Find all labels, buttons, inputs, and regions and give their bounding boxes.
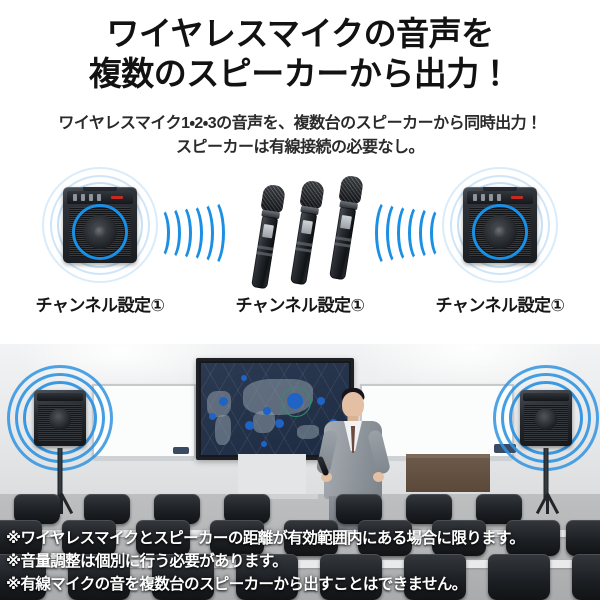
podium-top — [406, 454, 490, 458]
speaker-foot — [524, 259, 534, 263]
presenter-hand-right — [373, 472, 384, 482]
microphone-body — [251, 216, 278, 290]
map-node — [263, 407, 271, 415]
speaker-knob — [473, 194, 477, 201]
wireless-microphone-group — [244, 172, 356, 280]
speaker-knob — [73, 194, 77, 201]
tripod-leg — [546, 494, 549, 514]
microphone-lcd-display — [340, 215, 352, 229]
speaker-control-panel — [67, 191, 133, 204]
page-subtitle-line-2: スピーカーは有線接続の必要なし。 — [0, 136, 600, 160]
map-node-highlight — [281, 387, 311, 417]
display-stand — [238, 454, 306, 498]
continent-shape — [215, 415, 231, 445]
speaker-grille — [469, 207, 531, 257]
continent-shape — [297, 425, 319, 439]
speaker-knob — [89, 194, 93, 201]
presenter — [318, 388, 388, 504]
page-title-line-2: 複数のスピーカーから出力！ — [0, 54, 600, 94]
speaker-body — [463, 187, 537, 263]
microphone-band — [256, 251, 272, 256]
diagram-node-microphones: チャンネル設定① — [200, 162, 400, 312]
wave-arc — [375, 198, 401, 268]
infographic-page: ワイヤレスマイクの音声を 複数のスピーカーから出力！ ワイヤレスマイク1・2・3… — [0, 0, 600, 600]
microphone-lcd-display — [301, 220, 313, 234]
microphone-band — [257, 245, 273, 250]
speaker-dust-cap — [95, 227, 106, 238]
speaker-body — [520, 390, 572, 446]
conference-room-photo: ※ワイヤレスマイクとスピーカーの距離が有効範囲内にある場合に限ります。 ※音量調… — [0, 344, 600, 600]
microphone-icon-1 — [246, 183, 288, 290]
map-node — [241, 375, 247, 381]
sound-wave-left — [150, 200, 206, 266]
microphone-band — [295, 247, 311, 252]
page-title-line-1: ワイヤレスマイクの音声を — [0, 14, 600, 54]
footnote-3: ※有線マイクの音を複数台のスピーカーから出すことはできません。 — [6, 574, 598, 597]
footnote-1: ※ワイヤレスマイクとスピーカーの距離が有効範囲内にある場合に限ります。 — [6, 528, 598, 551]
speaker-control-panel — [467, 191, 533, 204]
tripod-leg — [60, 494, 63, 514]
speaker-grille — [69, 207, 131, 257]
speaker-led-indicator — [111, 196, 123, 199]
speaker-knob — [97, 194, 101, 201]
speaker-led-indicator — [511, 196, 523, 199]
microphone-band — [334, 242, 350, 247]
speaker-control-panel — [523, 393, 569, 401]
map-node — [219, 397, 228, 406]
footnote-2: ※音量調整は個別に行う必要があります。 — [6, 551, 598, 574]
diagram-node-right-speaker: チャンネル設定① — [400, 162, 600, 312]
speaker-stand-pole-right — [544, 448, 549, 500]
microphone-icon-2 — [285, 179, 327, 286]
speaker-cone — [49, 408, 71, 430]
map-node — [261, 441, 267, 447]
speaker-control-panel — [37, 393, 83, 401]
speaker-cone — [535, 408, 557, 430]
page-subtitle-line-1: ワイヤレスマイク1・2・3の音声を、複数台のスピーカーから同時出力！ — [0, 112, 600, 136]
diagram-caption-middle: チャンネル設定① — [200, 291, 400, 316]
speaker-foot — [124, 259, 134, 263]
speaker-knob — [81, 194, 85, 201]
speaker-knob — [481, 194, 485, 201]
map-node — [209, 413, 216, 420]
speaker-icon-right — [440, 170, 560, 280]
speaker-body — [34, 390, 86, 446]
speaker-stand-pole-left — [58, 448, 63, 500]
diagram-caption-right: チャンネル設定① — [400, 291, 600, 316]
microphone-lcd-display — [262, 224, 274, 238]
microphone-band — [296, 241, 312, 246]
page-subtitle: ワイヤレスマイク1・2・3の音声を、複数台のスピーカーから同時出力！ スピーカー… — [0, 112, 600, 160]
speaker-body — [63, 187, 137, 263]
speaker-dust-cap — [495, 227, 506, 238]
microphone-body — [290, 212, 317, 286]
diagram-caption-left: チャンネル設定① — [0, 291, 200, 316]
microphone-body — [329, 207, 356, 281]
speaker-knob — [497, 194, 501, 201]
map-node — [275, 419, 284, 428]
speaker-foot — [66, 259, 76, 263]
speaker-knob — [489, 194, 493, 201]
signal-flow-diagram: チャンネル設定① — [0, 162, 600, 342]
speaker-foot — [466, 259, 476, 263]
page-title: ワイヤレスマイクの音声を 複数のスピーカーから出力！ — [0, 14, 600, 95]
microphone-band — [335, 236, 351, 241]
presenter-head — [342, 392, 364, 418]
microphone-icon-3 — [324, 174, 366, 281]
blue-object-on-tray — [173, 447, 189, 454]
speaker-icon-left — [40, 170, 160, 280]
podium — [406, 454, 490, 492]
footnote-list: ※ワイヤレスマイクとスピーカーの距離が有効範囲内にある場合に限ります。 ※音量調… — [6, 528, 598, 596]
map-node — [245, 421, 254, 430]
